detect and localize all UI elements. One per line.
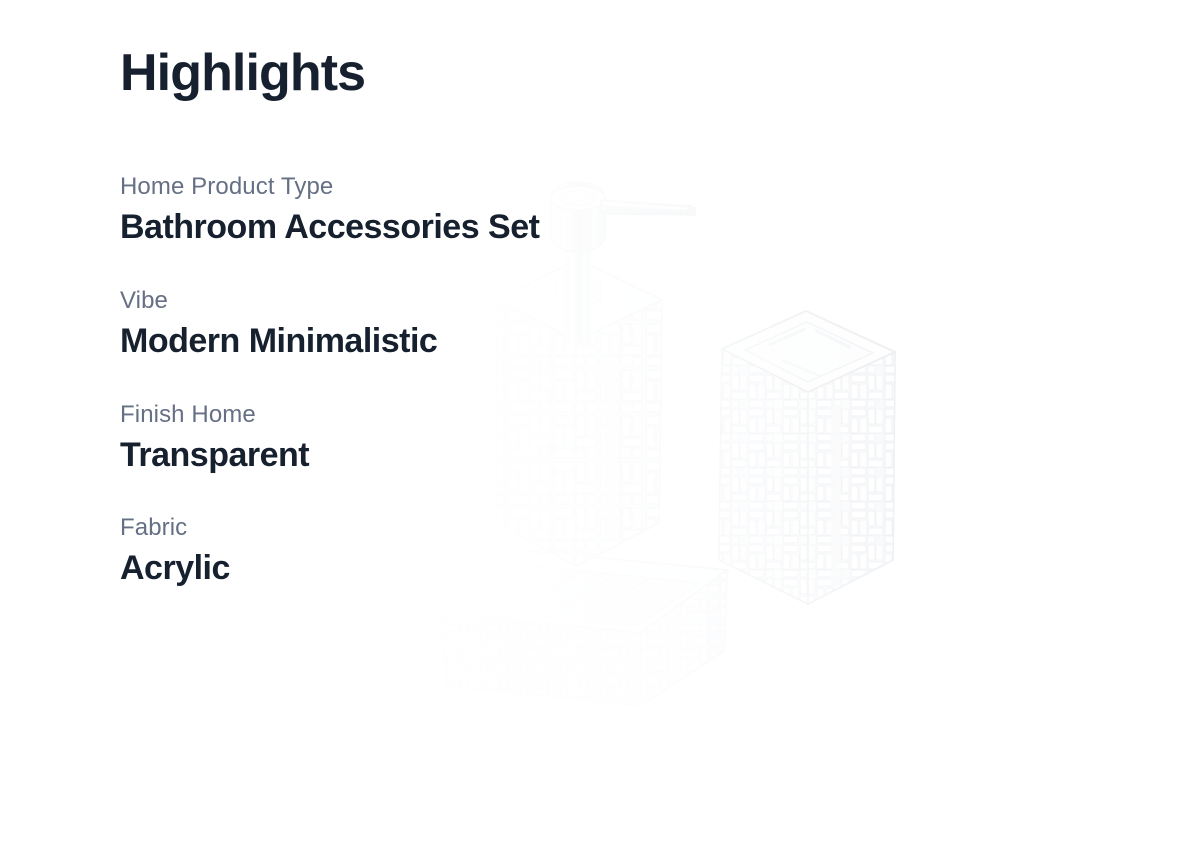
highlights-page: Highlights Home Product Type Bathroom Ac… xyxy=(0,0,1179,857)
highlight-value: Bathroom Accessories Set xyxy=(120,207,1020,248)
highlight-value: Transparent xyxy=(120,435,1020,476)
highlight-row: Finish Home Transparent xyxy=(120,400,1020,476)
highlight-row: Home Product Type Bathroom Accessories S… xyxy=(120,172,1020,248)
highlight-row: Fabric Acrylic xyxy=(120,513,1020,589)
highlight-label: Fabric xyxy=(120,513,1020,543)
highlight-label: Finish Home xyxy=(120,400,1020,430)
highlights-content: Highlights Home Product Type Bathroom Ac… xyxy=(0,0,1179,857)
page-title: Highlights xyxy=(120,44,365,104)
highlight-label: Home Product Type xyxy=(120,172,1020,202)
highlights-list: Home Product Type Bathroom Accessories S… xyxy=(120,172,1020,589)
highlight-row: Vibe Modern Minimalistic xyxy=(120,286,1020,362)
highlight-label: Vibe xyxy=(120,286,1020,316)
highlight-value: Acrylic xyxy=(120,548,1020,589)
highlight-value: Modern Minimalistic xyxy=(120,321,1020,362)
